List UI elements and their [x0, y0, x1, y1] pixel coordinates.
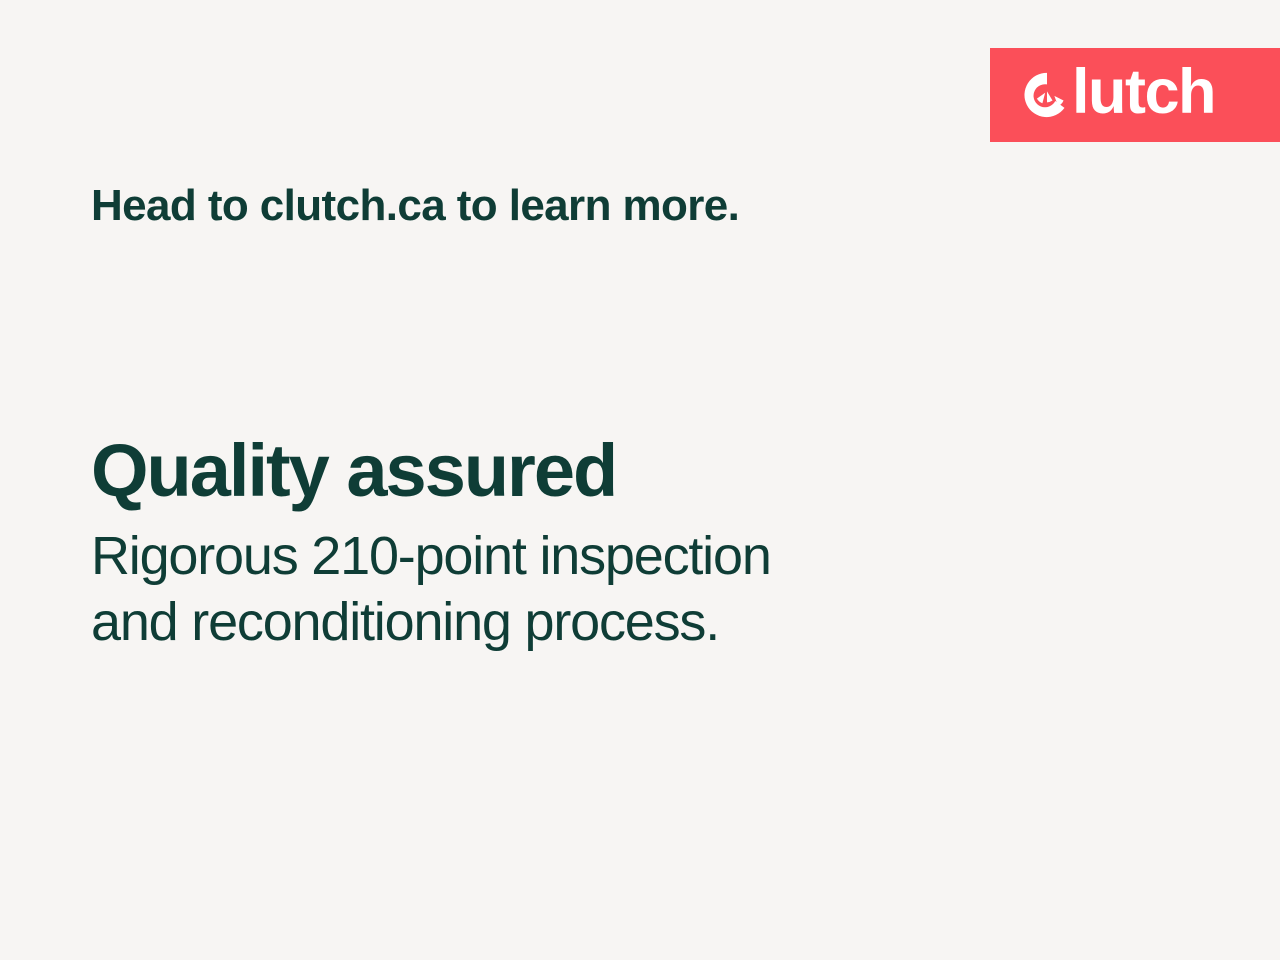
- subcopy-line-1: Rigorous 210-point inspection: [91, 524, 1091, 590]
- brand-wordmark: lutch: [1024, 64, 1215, 127]
- promo-slide: lutch Head to clutch.ca to learn more. Q…: [0, 0, 1280, 960]
- subcopy: Rigorous 210-point inspection and recond…: [91, 524, 1091, 656]
- message-block: Quality assured Rigorous 210-point inspe…: [91, 432, 1091, 656]
- clutch-disc-icon: [1024, 72, 1070, 118]
- brand-wordmark-text: lutch: [1072, 61, 1215, 124]
- subcopy-line-2: and reconditioning process.: [91, 590, 1091, 656]
- kicker-text: Head to clutch.ca to learn more.: [91, 182, 739, 230]
- brand-logo-badge[interactable]: lutch: [990, 48, 1280, 142]
- headline: Quality assured: [91, 432, 1091, 510]
